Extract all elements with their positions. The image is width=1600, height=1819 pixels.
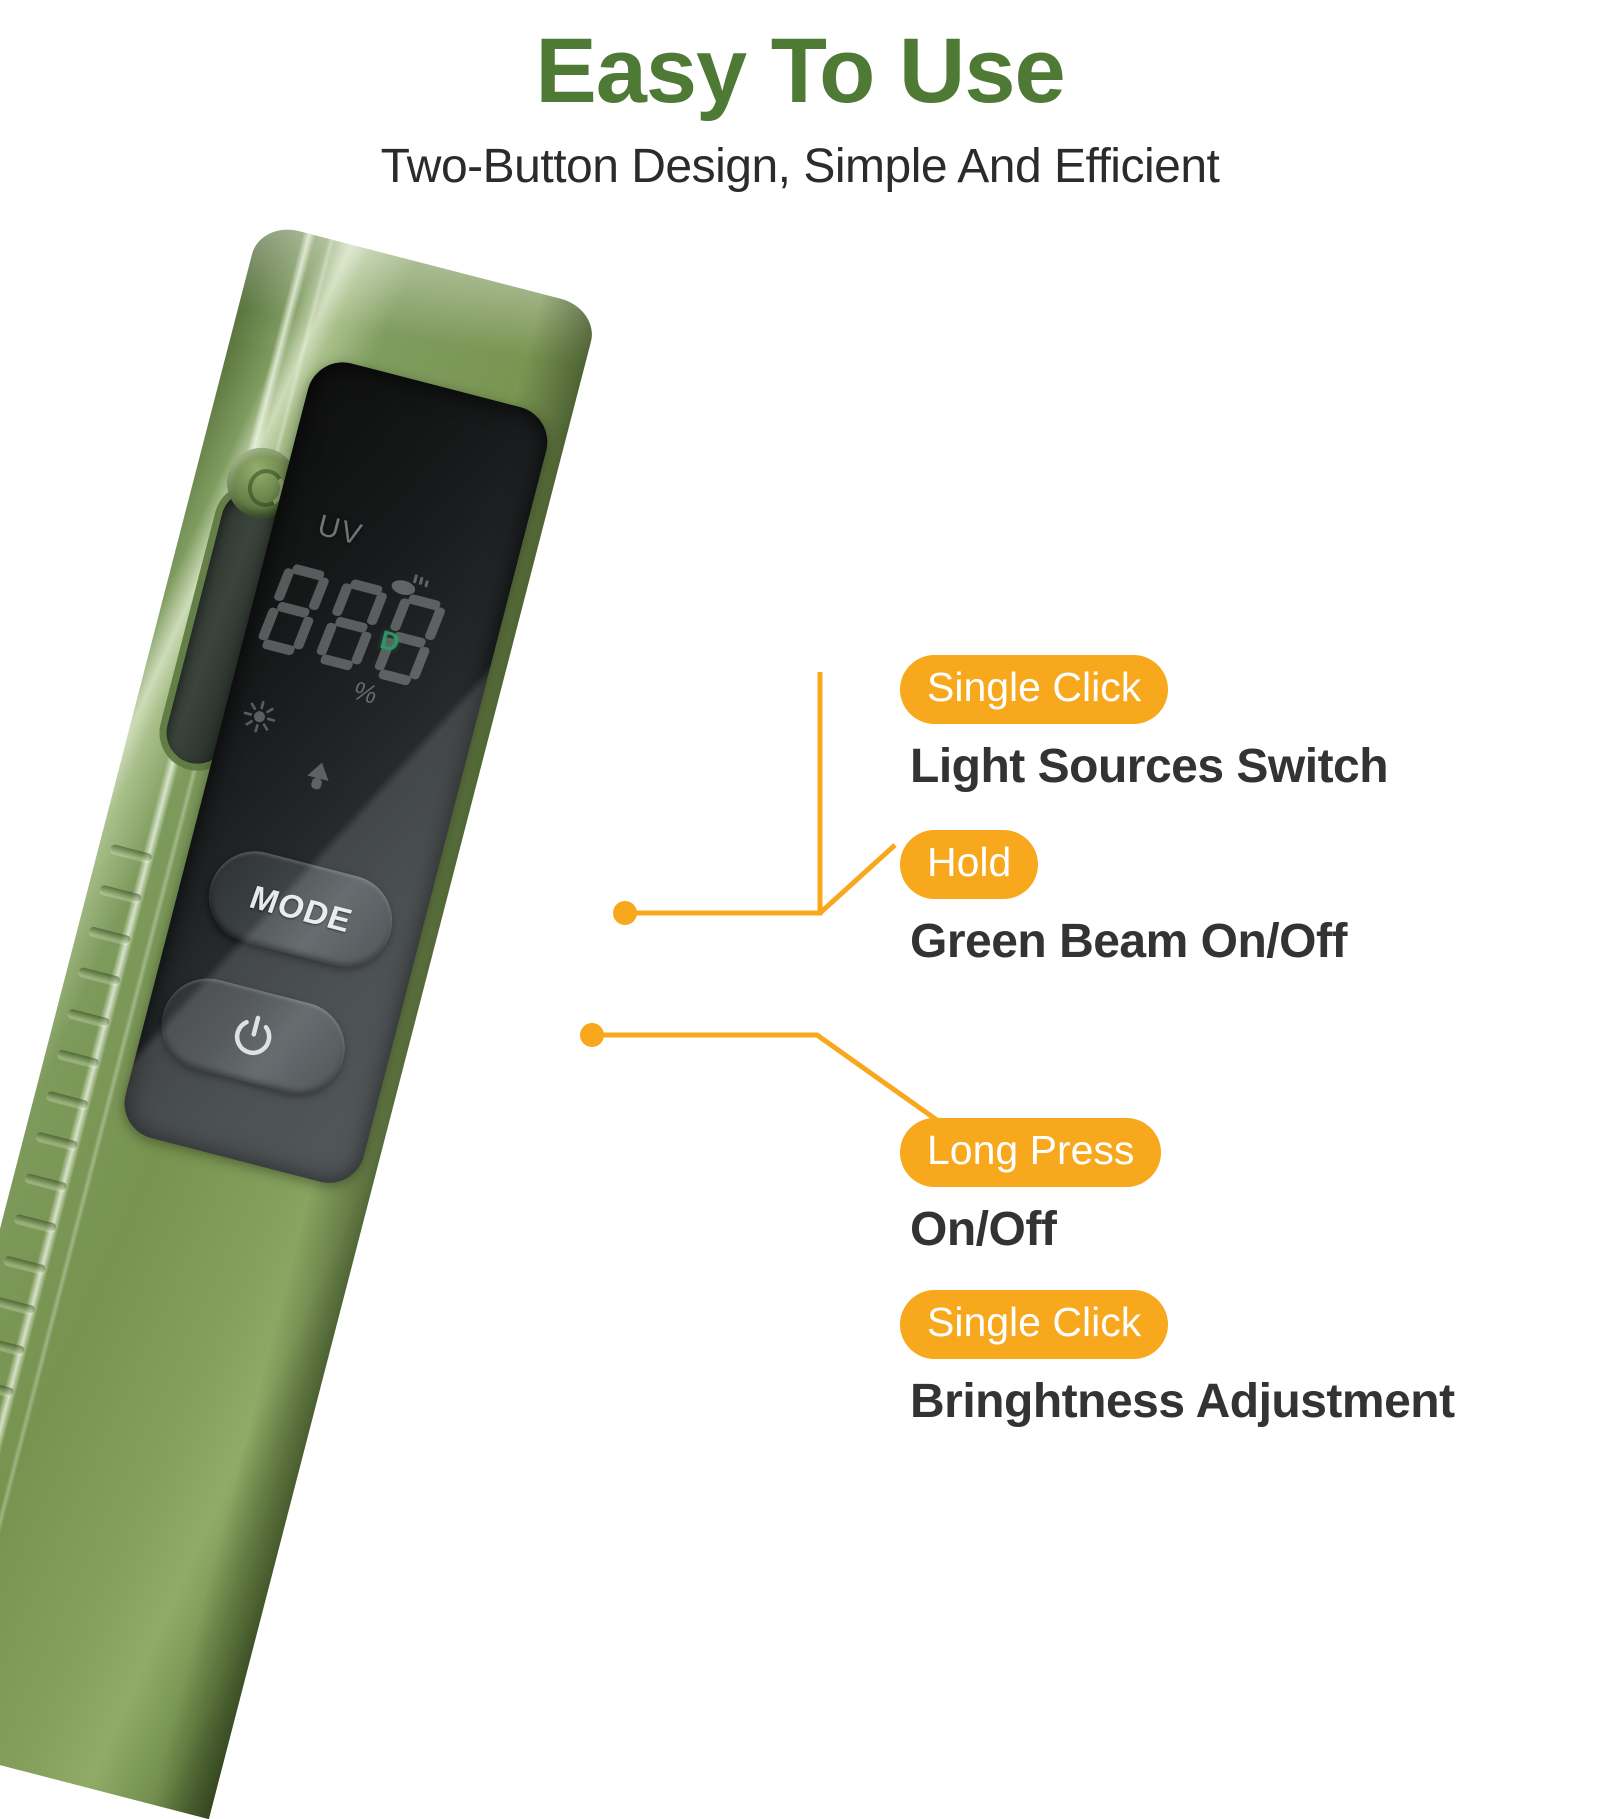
callout-description: Bringhtness Adjustment (910, 1374, 1455, 1429)
callout-pill: Single Click (900, 1290, 1168, 1359)
mode-button[interactable]: MODE (199, 841, 402, 977)
callout-description: On/Off (910, 1202, 1161, 1257)
power-button[interactable] (152, 968, 355, 1104)
sun-icon (239, 696, 280, 737)
grip-rib (14, 1214, 57, 1232)
grip-rib (78, 967, 121, 985)
grip-rib (57, 1049, 100, 1067)
callout-long-press-on-off: Long Press On/Off (900, 1118, 1161, 1257)
lamp-icon (296, 756, 341, 796)
callout-pill: Long Press (900, 1118, 1161, 1187)
uv-label: UV (314, 509, 367, 553)
grip-rib (110, 844, 153, 862)
product-image: UV (0, 0, 1000, 1600)
grip-rib (99, 885, 142, 903)
mode-button-label: MODE (244, 878, 356, 940)
callout-single-click-brightness: Single Click Bringhtness Adjustment (900, 1290, 1455, 1429)
grip-rib (67, 1008, 110, 1026)
control-panel: UV (117, 355, 555, 1191)
power-icon (225, 1008, 281, 1064)
grip-rib (0, 1378, 14, 1396)
grip-rib (46, 1090, 89, 1108)
callout-hold-green-beam: Hold Green Beam On/Off (900, 830, 1347, 969)
grip-rib (4, 1255, 47, 1273)
lcd-display: UV (199, 355, 555, 872)
grip-rib (89, 926, 132, 944)
callout-pill: Hold (900, 830, 1038, 899)
callout-description: Light Sources Switch (910, 739, 1388, 794)
percent-icon: % (348, 676, 382, 711)
callout-pill: Single Click (900, 655, 1168, 724)
grip-rib (36, 1132, 79, 1150)
callout-single-click-light-sources: Single Click Light Sources Switch (900, 655, 1388, 794)
flashlight-body: UV (0, 221, 599, 1819)
callout-description: Green Beam On/Off (910, 914, 1347, 969)
grip-rib (25, 1173, 68, 1191)
grip-rib (0, 1337, 25, 1355)
grip-rib (0, 1296, 36, 1314)
